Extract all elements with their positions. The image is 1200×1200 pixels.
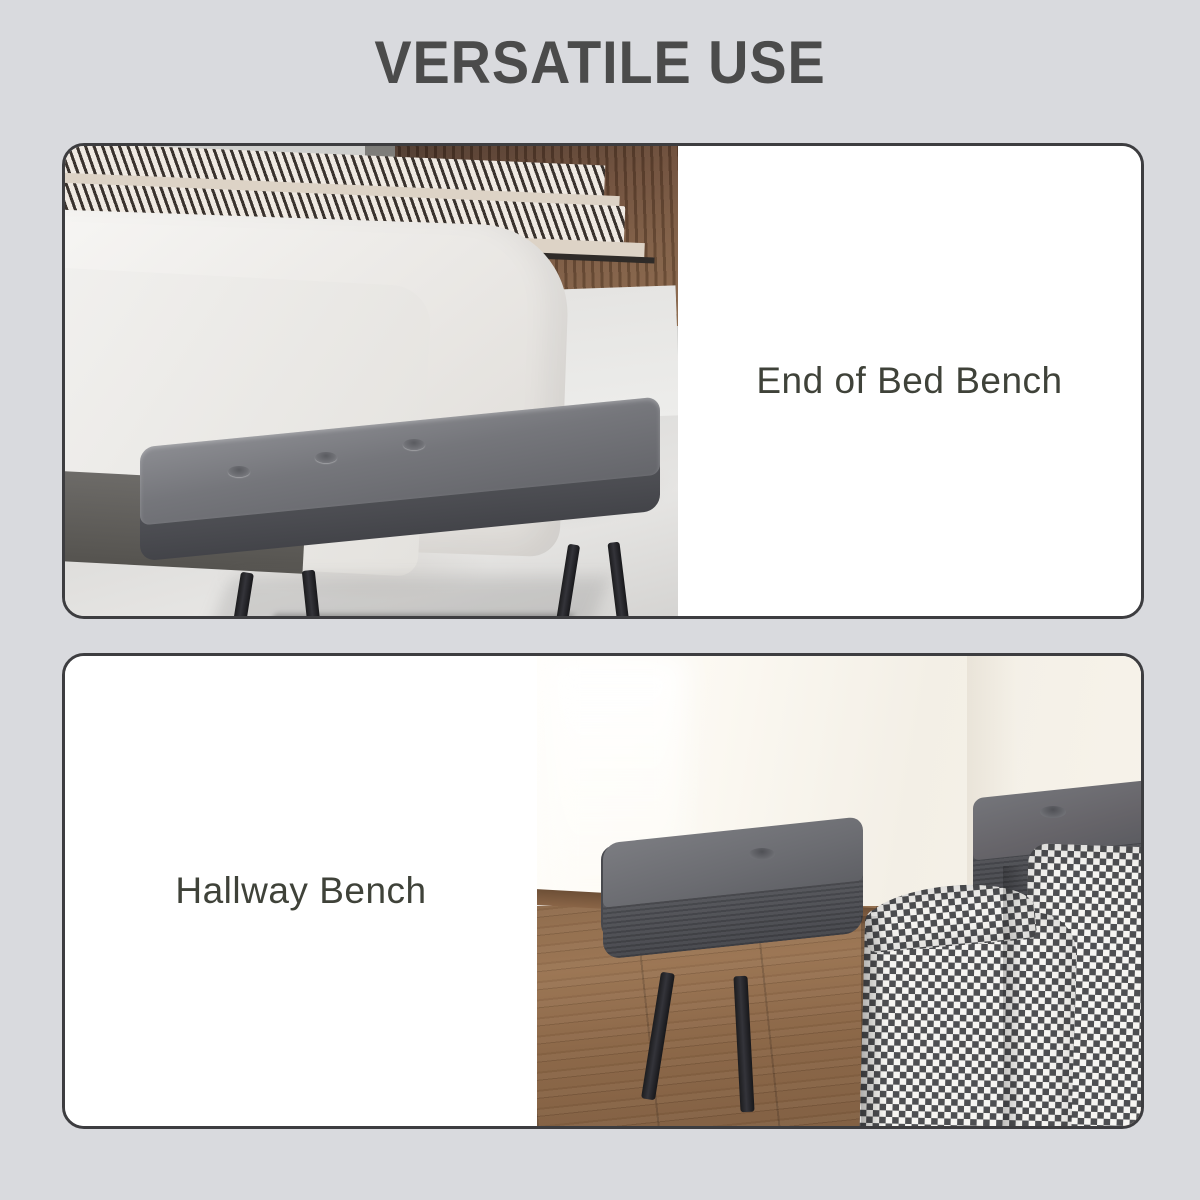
photo-end-of-bed-bench	[65, 146, 678, 616]
label-pane-hallway-bench: Hallway Bench	[65, 656, 537, 1126]
bench-tuft-button	[749, 848, 775, 860]
bench-tuft-button	[228, 466, 250, 477]
card-hallway-bench: Hallway Bench	[62, 653, 1144, 1129]
caption-end-of-bed-bench: End of Bed Bench	[756, 360, 1062, 402]
bench-shadow	[248, 614, 575, 616]
bench-end-of-bed	[140, 422, 660, 602]
page-title: VERSATILE USE	[42, 28, 1158, 97]
photo-hallway-bench	[537, 656, 1141, 1126]
card-end-of-bed-bench: End of Bed Bench	[62, 143, 1144, 619]
caption-hallway-bench: Hallway Bench	[175, 870, 426, 912]
label-pane-end-of-bed-bench: End of Bed Bench	[678, 146, 1141, 616]
bench-hallway	[603, 806, 1141, 1036]
bench-tuft-button	[1040, 806, 1066, 818]
bench-tuft-button	[315, 452, 337, 463]
bench-tuft-button	[403, 439, 425, 450]
